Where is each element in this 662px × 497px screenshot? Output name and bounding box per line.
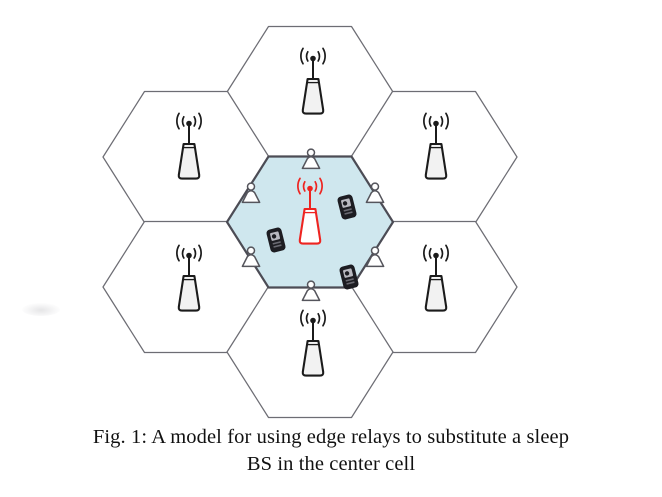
cellular-network-diagram: Top neighbor cellUpper-left neighbor cel… [0,0,662,430]
caption-line-1: Fig. 1: A model for using edge relays to… [0,424,662,451]
figure-caption: Fig. 1: A model for using edge relays to… [0,424,662,478]
caption-line-2: BS in the center cell [0,451,662,478]
figure-container: Top neighbor cellUpper-left neighbor cel… [0,0,662,497]
